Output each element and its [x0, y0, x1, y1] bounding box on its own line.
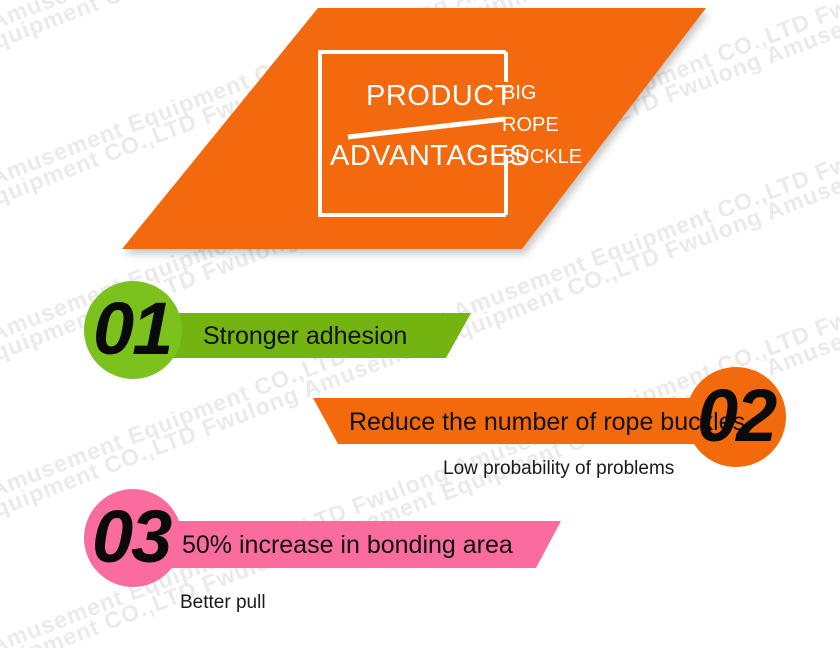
advantage-banner-shape-01 — [150, 313, 471, 358]
advantage-banner-02 — [300, 385, 720, 457]
advantage-banner-shape-03 — [150, 521, 561, 568]
advantage-banner-shape-02 — [313, 398, 720, 444]
advantage-banner-01 — [150, 300, 490, 370]
advantage-circle-03 — [84, 489, 182, 587]
advantage-banner-03 — [150, 508, 580, 580]
advantage-circle-02 — [686, 367, 786, 467]
infographic-canvas: Fwulong Amusement Equipment CO.,LTD Fwul… — [0, 0, 840, 648]
header-banner — [0, 0, 840, 270]
advantage-caption-03: Better pull — [180, 592, 266, 614]
advantage-caption-02: Low probability of problems — [443, 458, 674, 480]
advantage-circle-01 — [84, 281, 182, 379]
